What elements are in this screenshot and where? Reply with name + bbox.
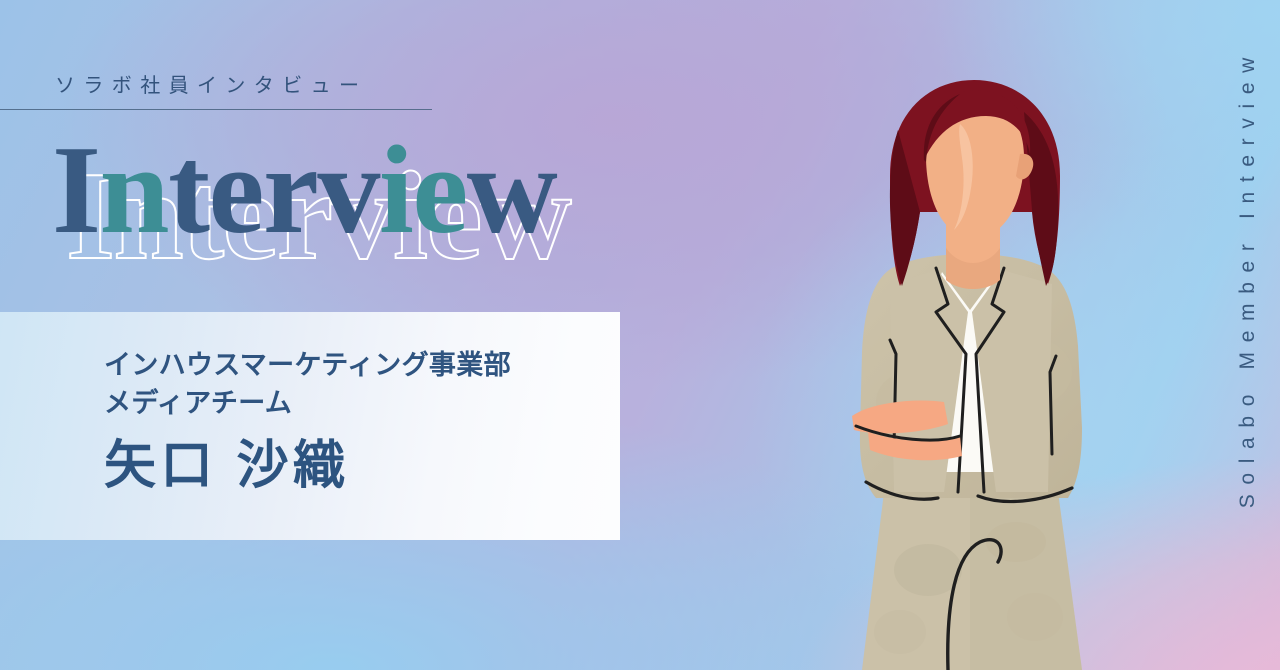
side-label-text: Solabo Member Interview — [1236, 48, 1260, 508]
department-line-1: インハウスマーケティング事業部 — [104, 350, 511, 380]
kicker-text: ソラボ社員インタビュー — [55, 74, 432, 98]
kicker-block: ソラボ社員インタビュー — [0, 74, 432, 110]
department-block: インハウスマーケティング事業部メディアチーム — [104, 346, 620, 423]
headline-part-1: I — [52, 121, 100, 260]
profile-card: インハウスマーケティング事業部メディアチーム 矢口 沙織 — [0, 312, 620, 540]
headline-part-2: n — [100, 121, 169, 260]
employee-name: 矢口 沙織 — [104, 437, 620, 495]
employee-illustration — [820, 72, 1150, 670]
headline-part-5: w — [467, 121, 556, 260]
headline-part-3: terv — [168, 121, 379, 260]
headline-interview: Interview Interview — [52, 128, 772, 268]
interview-banner: ソラボ社員インタビュー Interview Interview インハウスマーケ… — [0, 0, 1280, 670]
kicker-divider — [0, 109, 432, 110]
headline-solid-copy: Interview — [52, 128, 556, 254]
side-label-block: Solabo Member Interview — [1226, 48, 1270, 518]
department-line-2: メディアチーム — [104, 388, 292, 418]
headline-part-4: ie — [379, 121, 467, 260]
